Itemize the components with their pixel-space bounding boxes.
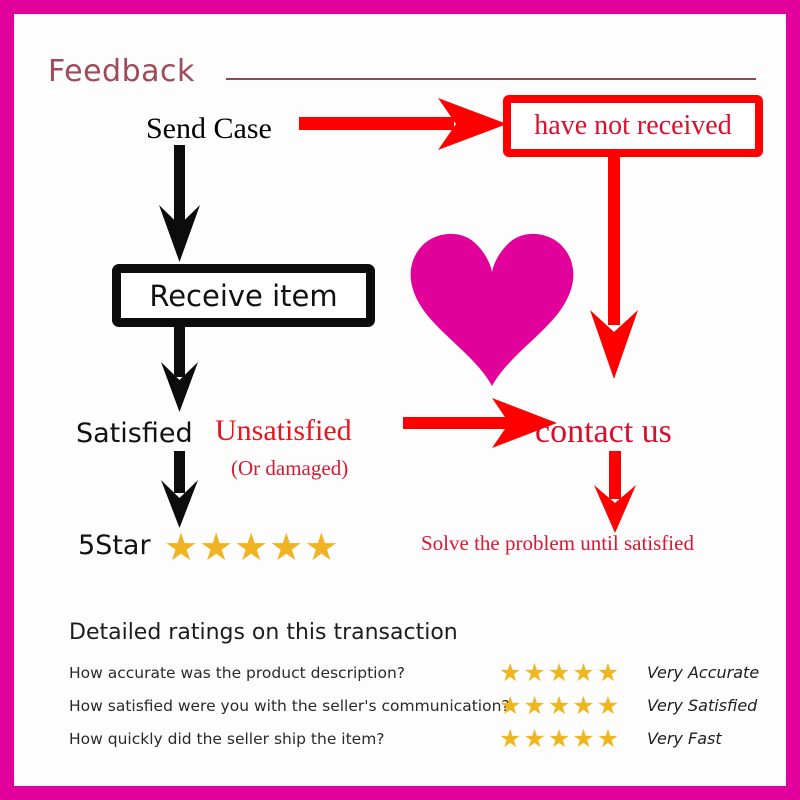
star-icon: ★	[304, 528, 338, 566]
detailed-ratings-heading: Detailed ratings on this transaction	[69, 620, 769, 645]
five-star-label: 5Star	[78, 530, 151, 561]
star-icon: ★	[597, 726, 619, 752]
rating-question: How accurate was the product description…	[69, 664, 499, 682]
star-icon: ★	[572, 693, 594, 719]
or-damaged-label: (Or damaged)	[231, 456, 348, 481]
receive-item-box-label: Receive item	[121, 279, 366, 313]
rating-stars: ★★★★★	[499, 693, 647, 719]
rating-stars: ★★★★★	[499, 726, 647, 752]
rating-question: How satisfied were you with the seller's…	[69, 697, 499, 715]
contact-us-label: contact us	[535, 413, 672, 451]
unsatisfied-label: Unsatisfied	[215, 414, 352, 448]
rating-label: Very Satisfied	[647, 696, 757, 715]
arrow-send-case-to-not-received	[299, 98, 507, 150]
page-title: Feedback	[48, 54, 195, 89]
arrow-satisfied-to-5star	[161, 451, 198, 528]
star-icon: ★	[164, 528, 198, 566]
arrow-unsatisfied-to-contact-us	[403, 398, 557, 448]
arrow-send-case-to-receive-item	[159, 145, 200, 262]
solve-problem-label: Solve the problem until satisfied	[421, 531, 694, 556]
rating-label: Very Fast	[647, 729, 722, 748]
receive-item-box: Receive item	[112, 264, 375, 327]
rating-label: Very Accurate	[647, 663, 759, 682]
star-icon: ★	[548, 726, 570, 752]
rating-question: How quickly did the seller ship the item…	[69, 730, 499, 748]
star-icon: ★	[523, 726, 545, 752]
star-icon: ★	[199, 528, 233, 566]
rating-row: How satisfied were you with the seller's…	[69, 689, 769, 722]
heart-icon	[406, 228, 578, 388]
star-icon: ★	[234, 528, 268, 566]
star-icon: ★	[523, 660, 545, 686]
have-not-received-box: have not received	[503, 95, 763, 157]
infographic-canvas: Feedback	[14, 14, 786, 786]
send-case-label: Send Case	[146, 112, 272, 146]
star-icon: ★	[572, 726, 594, 752]
star-icon: ★	[597, 660, 619, 686]
five-star-rating: ★★★★★	[164, 528, 338, 566]
star-icon: ★	[499, 660, 521, 686]
star-icon: ★	[499, 726, 521, 752]
feedback-infographic: Feedback	[0, 0, 800, 800]
rating-row: How accurate was the product description…	[69, 656, 769, 689]
rating-row: How quickly did the seller ship the item…	[69, 722, 769, 755]
star-icon: ★	[523, 693, 545, 719]
star-icon: ★	[499, 693, 521, 719]
star-icon: ★	[269, 528, 303, 566]
title-divider	[226, 78, 756, 80]
star-icon: ★	[572, 660, 594, 686]
arrow-not-received-to-contact	[590, 157, 638, 379]
star-icon: ★	[548, 660, 570, 686]
satisfied-label: Satisfied	[76, 418, 193, 449]
detailed-ratings-rows: How accurate was the product description…	[69, 656, 769, 755]
have-not-received-box-label: have not received	[511, 110, 755, 142]
detailed-ratings-panel: Detailed ratings on this transaction How…	[69, 620, 769, 755]
arrow-contact-us-to-solve	[594, 451, 636, 533]
arrow-receive-item-to-satisfied	[161, 327, 198, 412]
star-icon: ★	[597, 693, 619, 719]
rating-stars: ★★★★★	[499, 660, 647, 686]
star-icon: ★	[548, 693, 570, 719]
